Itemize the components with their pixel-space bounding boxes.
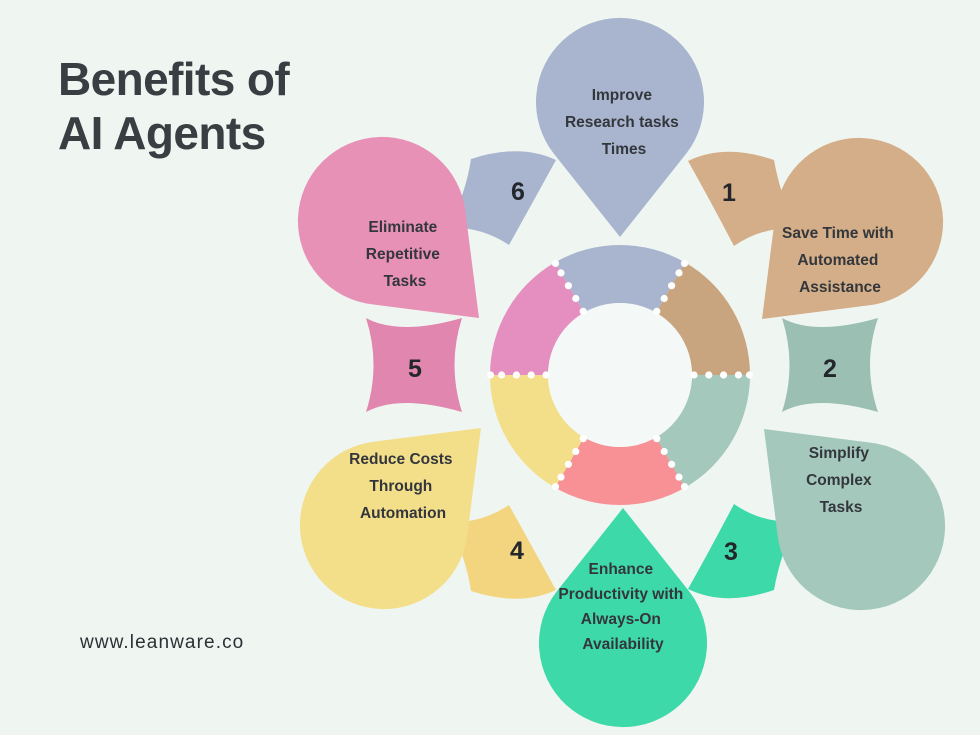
- website-url[interactable]: www.leanware.co: [80, 632, 244, 654]
- bubble-4-line-2: Through: [369, 478, 432, 495]
- bubble-3-line-4: Availability: [582, 636, 664, 653]
- badge-1-number: 1: [722, 179, 736, 207]
- badge-2[interactable]: 2: [782, 318, 878, 412]
- benefits-wheel-diagram: 6 1 2 3 4: [0, 0, 980, 735]
- bubble-2-line-1: Simplify: [809, 445, 870, 462]
- bubble-1-line-3: Assistance: [799, 279, 881, 296]
- bubble-6-line-2: Research tasks: [565, 114, 679, 131]
- ring-center-hole: [548, 303, 692, 447]
- bubble-6-line-3: Times: [602, 141, 647, 158]
- bubble-6-line-1: Improve: [592, 87, 653, 104]
- bubble-3-line-2: Productivity with: [558, 586, 683, 603]
- bubble-1-line-2: Automated: [797, 252, 878, 269]
- bubble-2-line-2: Complex: [806, 472, 872, 489]
- bubble-2-line-3: Tasks: [820, 499, 863, 516]
- bubble-5-line-3: Tasks: [384, 273, 427, 290]
- badge-5-number: 5: [408, 355, 422, 383]
- badge-5[interactable]: 5: [366, 318, 462, 412]
- bubble-4-line-3: Automation: [360, 505, 446, 522]
- bubble-5-line-1: Eliminate: [368, 219, 437, 236]
- bubble-5[interactable]: Eliminate Repetitive Tasks: [298, 137, 479, 318]
- badge-6-number: 6: [511, 178, 525, 206]
- bubble-1-line-1: Save Time with: [782, 225, 894, 242]
- bubble-1-label: Save Time with Automated Assistance: [782, 225, 898, 296]
- bubble-2[interactable]: Simplify Complex Tasks: [764, 429, 945, 610]
- bubble-4-line-1: Reduce Costs: [349, 451, 452, 468]
- bubble-6[interactable]: Improve Research tasks Times: [536, 18, 704, 237]
- badge-2-number: 2: [823, 355, 837, 383]
- infographic-canvas: Benefits ofAI Agents: [0, 0, 980, 735]
- bubble-3[interactable]: Enhance Productivity with Always-On Avai…: [539, 508, 707, 727]
- bubble-1[interactable]: Save Time with Automated Assistance: [762, 138, 943, 319]
- badge-4-number: 4: [510, 537, 524, 565]
- bubble-3-line-3: Always-On: [581, 611, 661, 628]
- bubble-3-line-1: Enhance: [589, 561, 654, 578]
- badge-3-number: 3: [724, 538, 738, 566]
- bubble-4[interactable]: Reduce Costs Through Automation: [300, 428, 481, 609]
- center-ring: [487, 245, 753, 505]
- bubble-5-line-2: Repetitive: [366, 246, 440, 263]
